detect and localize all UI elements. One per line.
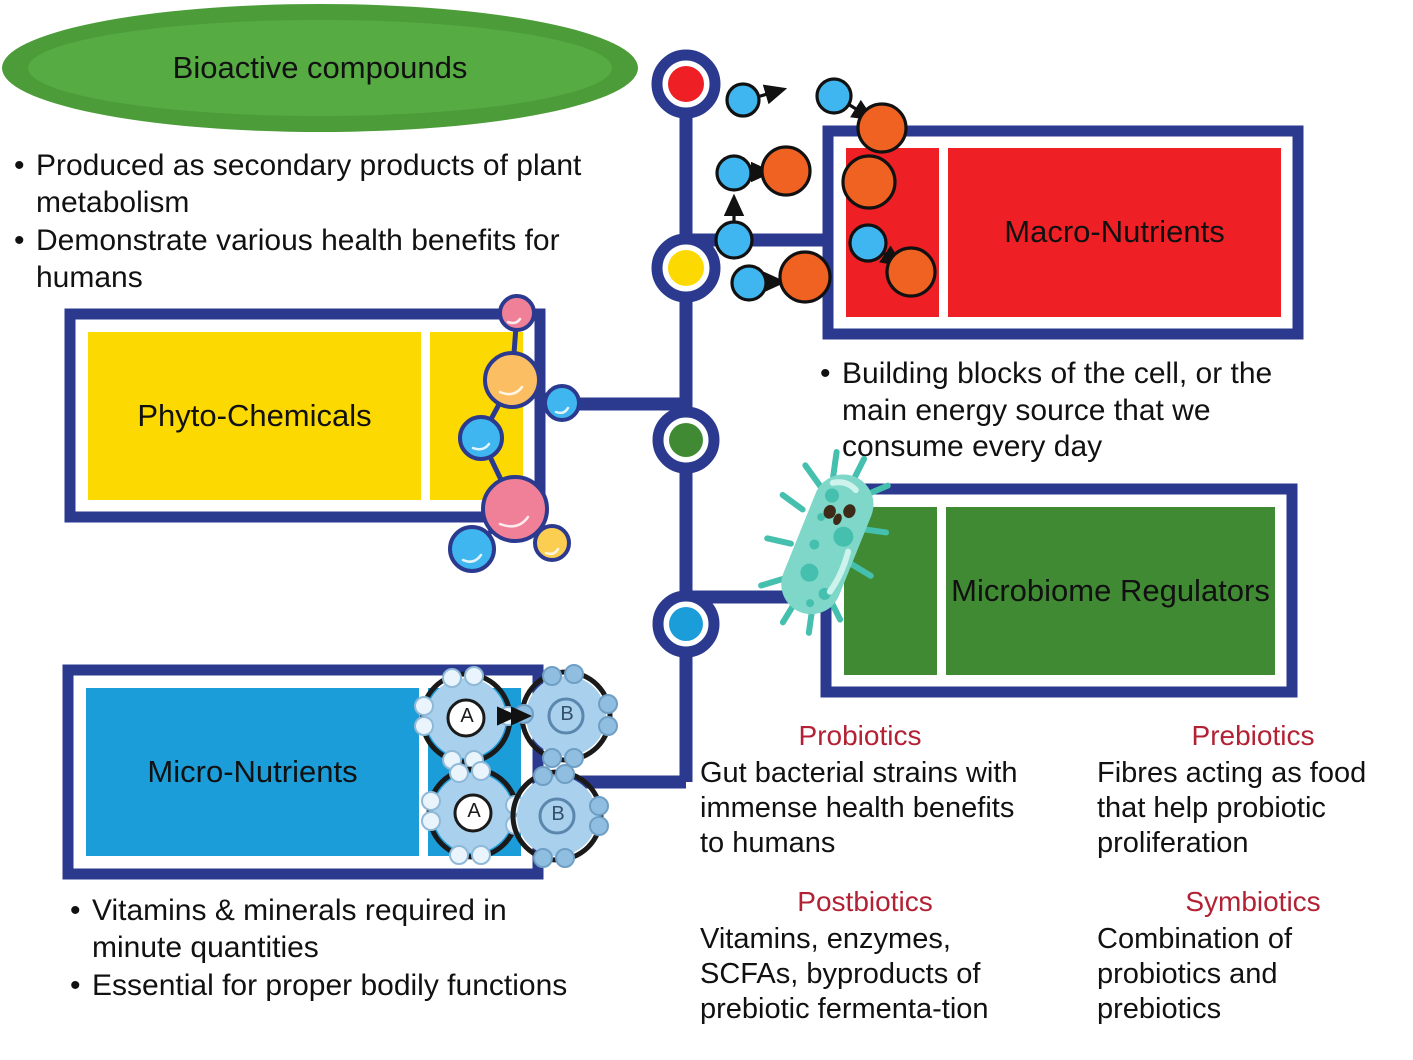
node-yellow-icon	[668, 250, 704, 286]
term-body-prebiotics: Fibres acting as food that help probioti…	[1097, 756, 1409, 860]
term-title-postbiotics: Postbiotics	[700, 886, 1030, 918]
term-body-probiotics: Gut bacterial strains with immense healt…	[700, 756, 1020, 860]
term-block-probiotics: Probiotics Gut bacterial strains with im…	[700, 720, 1020, 860]
node-red-icon	[668, 66, 704, 102]
term-block-prebiotics: Prebiotics Fibres acting as food that he…	[1097, 720, 1409, 860]
term-title-symbiotics: Symbiotics	[1097, 886, 1409, 918]
term-title-prebiotics: Prebiotics	[1097, 720, 1409, 752]
term-block-symbiotics: Symbiotics Combination of probiotics and…	[1097, 886, 1409, 1026]
node-green-icon	[669, 423, 703, 457]
term-body-symbiotics: Combination of probiotics and prebiotics	[1097, 922, 1409, 1026]
term-title-probiotics: Probiotics	[700, 720, 1020, 752]
node-blue-icon	[669, 607, 703, 641]
term-block-postbiotics: Postbiotics Vitamins, enzymes, SCFAs, by…	[700, 886, 1030, 1026]
diagram-canvas: Bioactive compounds Produced as secondar…	[0, 0, 1413, 1060]
term-body-postbiotics: Vitamins, enzymes, SCFAs, byproducts of …	[700, 922, 1030, 1026]
